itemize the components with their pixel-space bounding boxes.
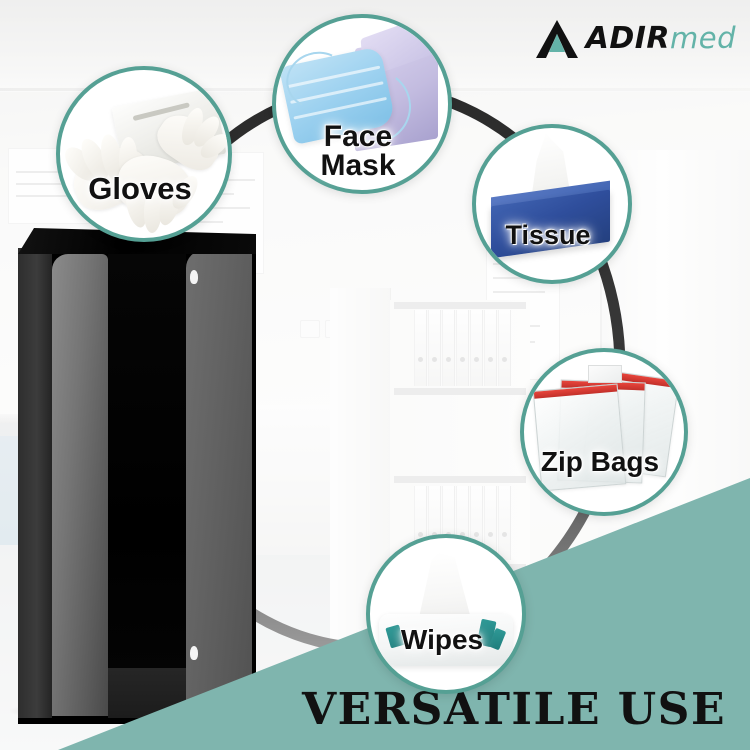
callout-zip-bags-art <box>524 352 684 512</box>
callout-wipes-art <box>370 538 522 690</box>
zip-bag-tab <box>588 365 622 383</box>
banner-title: VERSATILE USE <box>0 688 750 732</box>
glove-dispenser-product <box>18 228 256 724</box>
dispenser-side-left <box>18 248 52 718</box>
callout-tissue-label: Tissue <box>468 222 628 248</box>
dispenser-front-panel <box>108 248 186 718</box>
brand-logo: ADIR med <box>535 16 736 62</box>
brand-name-light: med <box>670 24 736 53</box>
mount-keyhole-bottom-icon <box>190 646 198 660</box>
callout-zip-bags[interactable] <box>520 348 688 516</box>
callout-zip-bags-label: Zip Bags <box>512 448 688 475</box>
callout-gloves[interactable] <box>56 66 232 242</box>
callout-tissue[interactable] <box>472 124 632 284</box>
brand-wordmark: ADIR med <box>586 24 736 54</box>
callout-face-mask-label: Face Mask <box>272 122 444 181</box>
callout-gloves-art <box>60 70 228 238</box>
mount-keyhole-top-icon <box>190 270 198 284</box>
callout-gloves-label: Gloves <box>56 174 224 204</box>
chevron-arrow-icon <box>535 18 579 60</box>
callout-wipes-label: Wipes <box>366 626 518 653</box>
product-marketing-image: VERSATILE USE Gloves <box>0 0 750 750</box>
brand-name-bold: ADIR <box>586 24 670 54</box>
callout-tissue-art <box>476 128 628 280</box>
dispenser-panel-left <box>52 254 108 716</box>
callout-wipes[interactable] <box>366 534 526 694</box>
